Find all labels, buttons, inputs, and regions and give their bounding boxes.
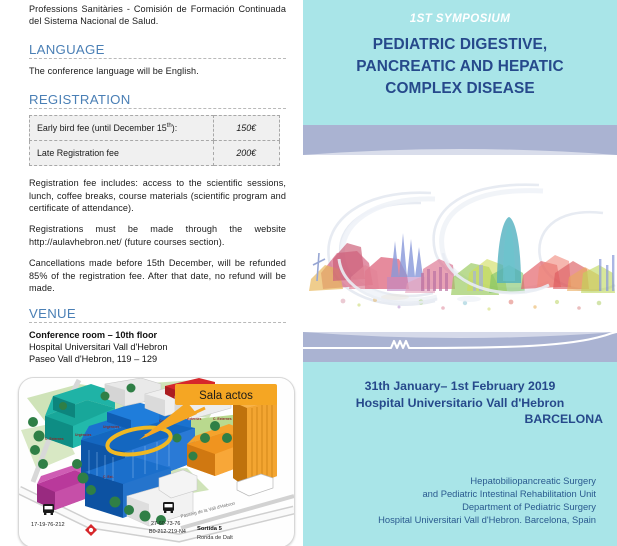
- conference-title-line: PEDIATRIC DIGESTIVE,: [317, 34, 603, 56]
- date-zone: 31th January– 1st February 2019 Hospital…: [303, 362, 617, 546]
- language-text: The conference language will be English.: [29, 65, 286, 77]
- fee-label-cell: Late Registration fee: [30, 141, 214, 166]
- campus-map[interactable]: Urgències Urgències Consultes Externes C…: [18, 377, 295, 546]
- map-exit-sub: Ronda de Dalt: [197, 535, 233, 541]
- map-bus-right-label-2: B0-212-219-N4: [149, 529, 186, 535]
- venue-address: Paseo Vall d'Hebron, 119 – 129: [29, 354, 286, 366]
- callout-label: Sala actos: [199, 390, 253, 402]
- registration-paragraph: Cancellations made before 15th December,…: [29, 257, 286, 294]
- venue-room: Conference room – 10th floor: [29, 329, 286, 341]
- credit-line: and Pediatric Intestinal Rehabilitation …: [317, 487, 596, 500]
- map-poi-label: C. Externes: [45, 437, 64, 441]
- fee-label-tail: ):: [172, 123, 177, 133]
- venue-hospital: Hospital Universitari Vall d'Hebron: [29, 342, 286, 354]
- map-poi-label: Externes: [187, 417, 201, 421]
- map-exit-title: Sortida 5: [197, 526, 223, 532]
- registration-paragraph: Registrations must be made through the w…: [29, 223, 286, 248]
- venue-rule: [29, 322, 286, 323]
- fee-label-cell: Early bird fee (until December 15th):: [30, 116, 214, 141]
- top-decorative-band: [303, 125, 617, 155]
- table-row: Late Registration fee 200€: [30, 141, 280, 166]
- map-bus-left-label: 17-19-76-212: [31, 522, 65, 528]
- skyline-artwork: [303, 155, 617, 332]
- event-city: BARCELONA: [317, 411, 603, 428]
- language-heading: LANGUAGE: [29, 42, 286, 57]
- table-row: Early bird fee (until December 15th): 15…: [30, 116, 280, 141]
- event-date: 31th January– 1st February 2019: [317, 378, 603, 395]
- intro-paragraph: Professions Sanitàries - Comisión de For…: [29, 3, 286, 28]
- fee-value-cell: 150€: [213, 116, 279, 141]
- registration-paragraph: Registration fee includes: access to the…: [29, 177, 286, 214]
- fee-value-cell: 200€: [213, 141, 279, 166]
- band-curve-top: [303, 125, 617, 155]
- credit-line: Hospital Universitari Vall d'Hebron. Bar…: [317, 513, 596, 526]
- credit-line: Hepatobiliopancreatic Surgery: [317, 474, 596, 487]
- title-zone: 1ST SYMPOSIUM PEDIATRIC DIGESTIVE, PANCR…: [303, 0, 617, 125]
- bottom-decorative-band: [303, 332, 617, 362]
- map-poi-label: Urgències: [103, 425, 120, 429]
- skyline-zone: [303, 125, 617, 362]
- map-poi-label: C. Ext.: [103, 475, 114, 479]
- registration-rule: [29, 108, 286, 109]
- organizer-credits: Hepatobiliopancreatic Surgery and Pediat…: [303, 428, 617, 527]
- conference-title: PEDIATRIC DIGESTIVE, PANCREATIC AND HEPA…: [303, 25, 617, 100]
- map-poi-label: Urgències: [75, 433, 92, 437]
- fee-table: Early bird fee (until December 15th): 15…: [29, 115, 280, 166]
- fee-label-text: Early bird fee (until December 15: [37, 123, 167, 133]
- credit-line: Department of Pediatric Surgery: [317, 500, 596, 513]
- barcelona-watercolor-skyline-icon: [303, 155, 617, 332]
- conference-title-line: COMPLEX DISEASE: [317, 78, 603, 100]
- registration-heading: REGISTRATION: [29, 92, 286, 107]
- right-panel: 1ST SYMPOSIUM PEDIATRIC DIGESTIVE, PANCR…: [303, 0, 617, 546]
- campus-map-illustration: Urgències Urgències Consultes Externes C…: [19, 378, 294, 546]
- band-wave-icon: [303, 332, 617, 362]
- symposium-kicker: 1ST SYMPOSIUM: [303, 0, 617, 25]
- language-rule: [29, 58, 286, 59]
- map-bus-right-label-1: 27-60-73-76: [151, 521, 180, 527]
- venue-heading: VENUE: [29, 306, 286, 321]
- map-poi-label: C. Externes: [213, 417, 232, 421]
- event-date-block: 31th January– 1st February 2019 Hospital…: [303, 362, 617, 428]
- conference-title-line: PANCREATIC AND HEPATIC: [317, 56, 603, 78]
- event-venue: Hospital Universitario Vall d'Hebron: [317, 395, 603, 412]
- brochure-page: Professions Sanitàries - Comisión de For…: [0, 0, 617, 546]
